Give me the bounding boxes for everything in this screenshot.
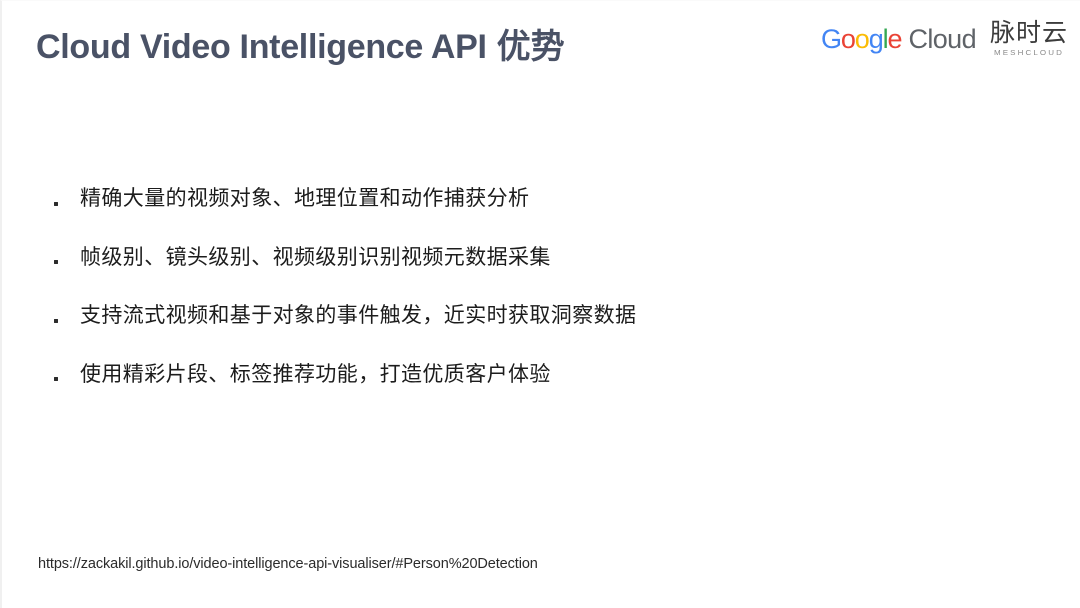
list-item: 帧级别、镜头级别、视频级别识别视频元数据采集 [54, 212, 1014, 271]
logo-lockup: GoogleCloud 脉时云 MESHCLOUD [821, 21, 1068, 57]
list-item-label: 支持流式视频和基于对象的事件触发，近实时获取洞察数据 [80, 304, 636, 328]
bullet-list: 精确大量的视频对象、地理位置和动作捕获分析 帧级别、镜头级别、视频级别识别视频元… [54, 153, 1014, 387]
list-item: 支持流式视频和基于对象的事件触发，近实时获取洞察数据 [54, 270, 1014, 329]
list-item-label: 帧级别、镜头级别、视频级别识别视频元数据采集 [80, 246, 551, 270]
google-letter-e-red: e [888, 24, 902, 54]
google-cloud-logo: GoogleCloud [821, 21, 976, 53]
google-letter-o-yellow: o [855, 24, 869, 54]
list-item-label: 使用精彩片段、标签推荐功能，打造优质客户体验 [80, 363, 551, 387]
page-title-english: Cloud Video Intelligence API [36, 28, 487, 66]
bullet-point-icon [54, 377, 58, 381]
page-title-chinese: 优势 [497, 28, 565, 66]
bullet-point-icon [54, 202, 58, 206]
slide-canvas: Cloud Video Intelligence API优势 GoogleClo… [0, 0, 1080, 608]
google-wordmark: Google [821, 24, 902, 54]
bullet-point-icon [54, 319, 58, 323]
google-letter-g-blue: G [821, 24, 841, 54]
bullet-point-icon [54, 260, 58, 264]
page-title: Cloud Video Intelligence API优势 [36, 29, 565, 66]
meshcloud-chinese-wordmark: 脉时云 [990, 21, 1068, 46]
google-letter-g-blue-2: g [869, 24, 883, 54]
meshcloud-english-wordmark: MESHCLOUD [994, 49, 1064, 57]
meshcloud-logo: 脉时云 MESHCLOUD [990, 21, 1068, 57]
google-cloud-wordmark: Cloud [908, 24, 976, 54]
footer-url-link[interactable]: https://zackakil.github.io/video-intelli… [38, 556, 538, 572]
google-letter-o-red: o [841, 24, 855, 54]
list-item: 使用精彩片段、标签推荐功能，打造优质客户体验 [54, 329, 1014, 388]
list-item: 精确大量的视频对象、地理位置和动作捕获分析 [54, 153, 1014, 212]
list-item-label: 精确大量的视频对象、地理位置和动作捕获分析 [80, 187, 529, 211]
